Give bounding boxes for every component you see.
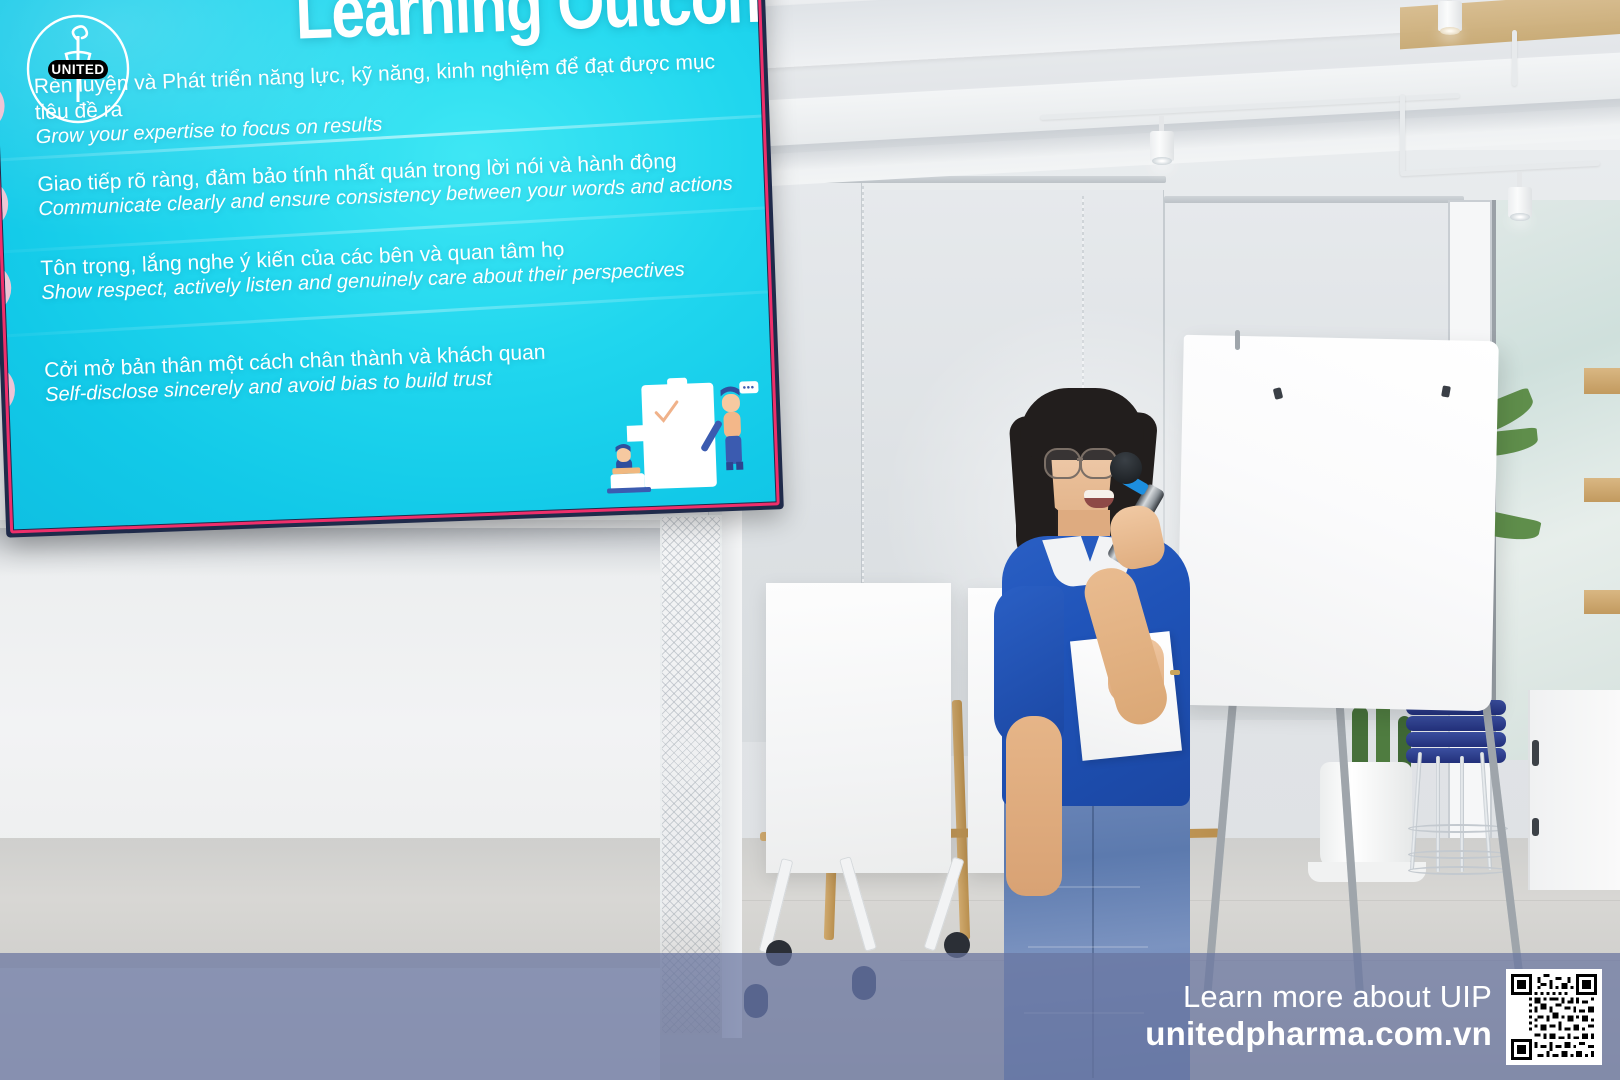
ceiling-conduit: [1512, 30, 1517, 86]
bullet-marker: [0, 79, 5, 133]
glasses-bridge: [1077, 458, 1083, 461]
wood-shelf: [1584, 590, 1620, 614]
banner-headline: Learn more about UIP: [1145, 979, 1492, 1016]
presenter-hair: [1020, 388, 1144, 460]
easel-post: [1235, 330, 1240, 350]
united-logo-watermark: UNITED: [24, 14, 132, 124]
glasses: [1044, 448, 1081, 479]
cabinet-handle: [1532, 740, 1539, 766]
blind-chain: [862, 186, 864, 616]
ceiling-conduit: [1400, 94, 1405, 174]
blind-rail: [1164, 196, 1464, 203]
qr-code-icon[interactable]: [1506, 969, 1602, 1065]
screenshot-root: Learning Outcomes Rèn luyện và Phát triể…: [0, 0, 1620, 1080]
presenter-arm: [1006, 716, 1062, 896]
logo-wordmark: UNITED: [51, 62, 104, 77]
clipboard-checklist-illustration: [589, 365, 764, 506]
banner-text: Learn more about UIP unitedpharma.com.vn: [1145, 979, 1492, 1055]
presenter-mouth: [1084, 490, 1114, 508]
flipchart-sheet: [1176, 335, 1499, 712]
wood-shelf: [1584, 368, 1620, 394]
jeans-fold: [1028, 946, 1148, 948]
whiteboard-panel: [766, 583, 951, 873]
banner-content: Learn more about UIP unitedpharma.com.vn: [1145, 953, 1620, 1080]
wood-shelf: [1584, 478, 1620, 502]
banner-website[interactable]: unitedpharma.com.vn: [1145, 1015, 1492, 1054]
bottom-banner: Learn more about UIP unitedpharma.com.vn: [0, 953, 1620, 1080]
cabinet-handle: [1532, 818, 1539, 836]
slide-bullet-item: Giao tiếp rõ ràng, đảm bảo tính nhất quá…: [1, 145, 764, 223]
snake-icon: [73, 26, 87, 40]
left-wall-shadow: [0, 528, 700, 576]
cabinet: [1528, 690, 1620, 890]
finger-ring: [1170, 670, 1180, 675]
plant-pot: [1320, 762, 1412, 870]
slide-bullet-item: Tôn trọng, lắng nghe ý kiến của các bên …: [4, 229, 767, 307]
